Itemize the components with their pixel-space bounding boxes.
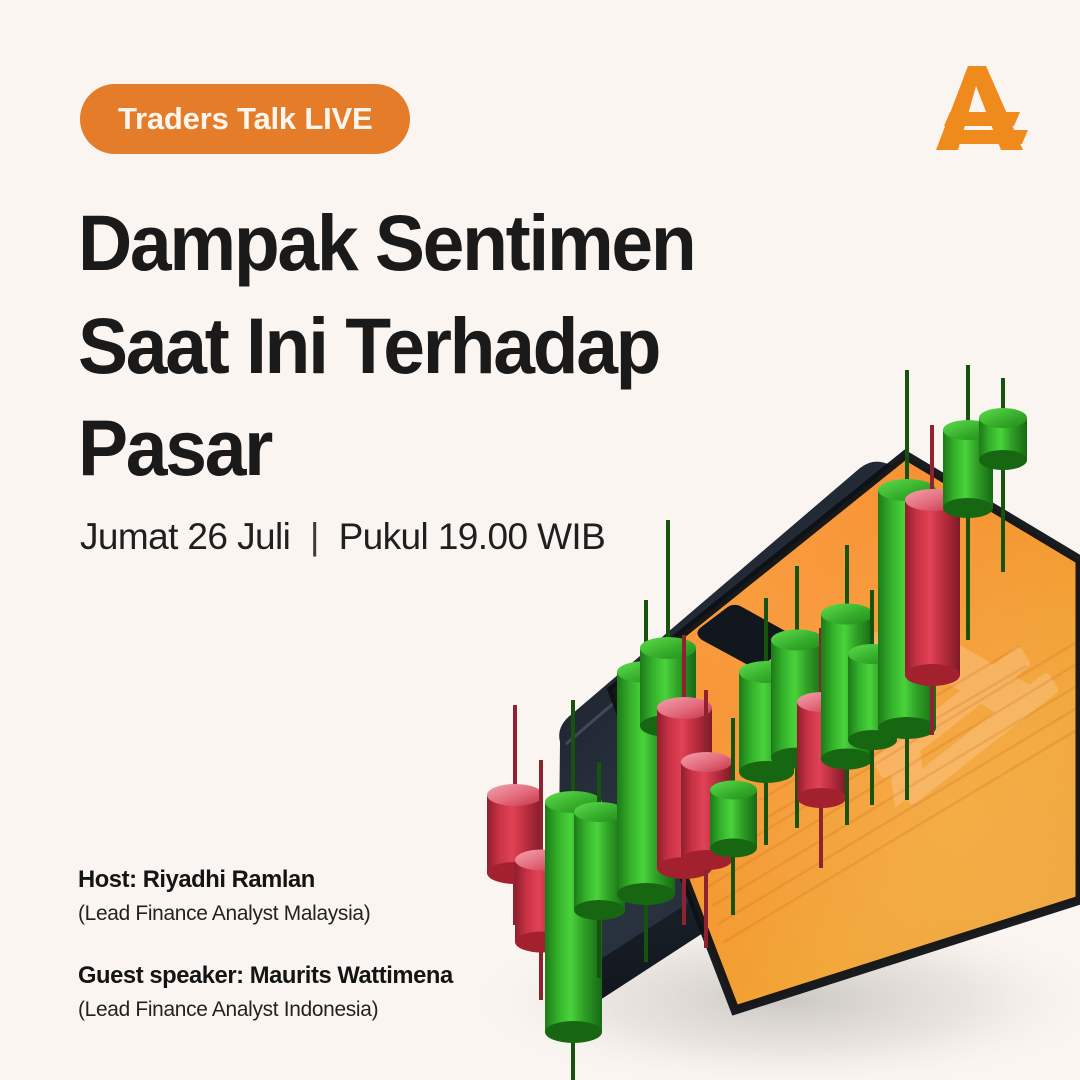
credit-host-name: Host: Riyadhi Ramlan <box>78 866 534 894</box>
credit-guest: Guest speaker: Maurits Wattimena (Lead F… <box>78 962 548 1022</box>
credit-guest-role: (Lead Finance Analyst Indonesia) <box>78 997 534 1022</box>
credits-block: Host: Riyadhi Ramlan (Lead Finance Analy… <box>78 866 548 1022</box>
promo-poster: Traders Talk LIVE Dampak Sentimen Saat I… <box>0 0 1080 1080</box>
credit-host: Host: Riyadhi Ramlan (Lead Finance Analy… <box>78 866 548 926</box>
credit-host-role: (Lead Finance Analyst Malaysia) <box>78 901 534 926</box>
credit-guest-name: Guest speaker: Maurits Wattimena <box>78 962 534 990</box>
